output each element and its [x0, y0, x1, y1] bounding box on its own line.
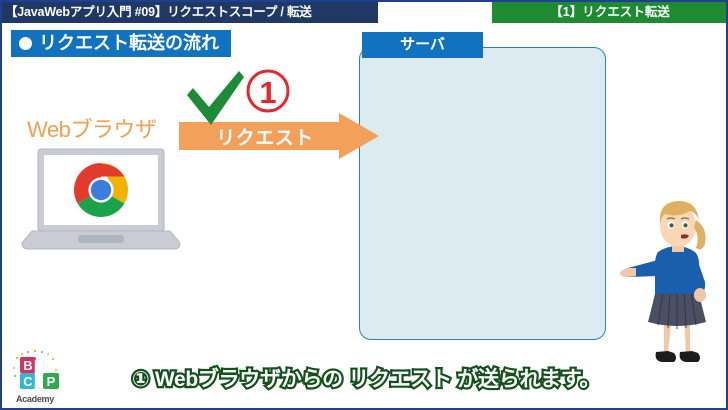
green-check-icon: [184, 69, 246, 129]
server-tab-label: サーバ: [362, 32, 483, 58]
step-number-icon: 1: [245, 68, 291, 114]
chapter-badge: 【1】リクエスト転送: [492, 2, 728, 23]
slide-caption: ① Webブラウザからの リクエスト が送られます。: [2, 363, 728, 393]
section-heading-label: リクエスト転送の流れ: [39, 30, 219, 57]
slide-title: 【JavaWebアプリ入門 #09】リクエストスコープ / 転送: [2, 2, 378, 23]
section-heading: リクエスト転送の流れ: [11, 30, 231, 57]
laptop-icon: [16, 147, 186, 259]
chrome-logo-icon: [74, 163, 128, 217]
filled-circle-bullet-icon: [19, 37, 32, 50]
slide-root: 【JavaWebアプリ入門 #09】リクエストスコープ / 転送 【1】リクエス…: [0, 0, 728, 410]
web-browser-label: Webブラウザ: [27, 112, 156, 144]
server-container: [359, 47, 606, 340]
pointing-woman-icon: [620, 198, 728, 376]
svg-text:1: 1: [259, 75, 276, 110]
